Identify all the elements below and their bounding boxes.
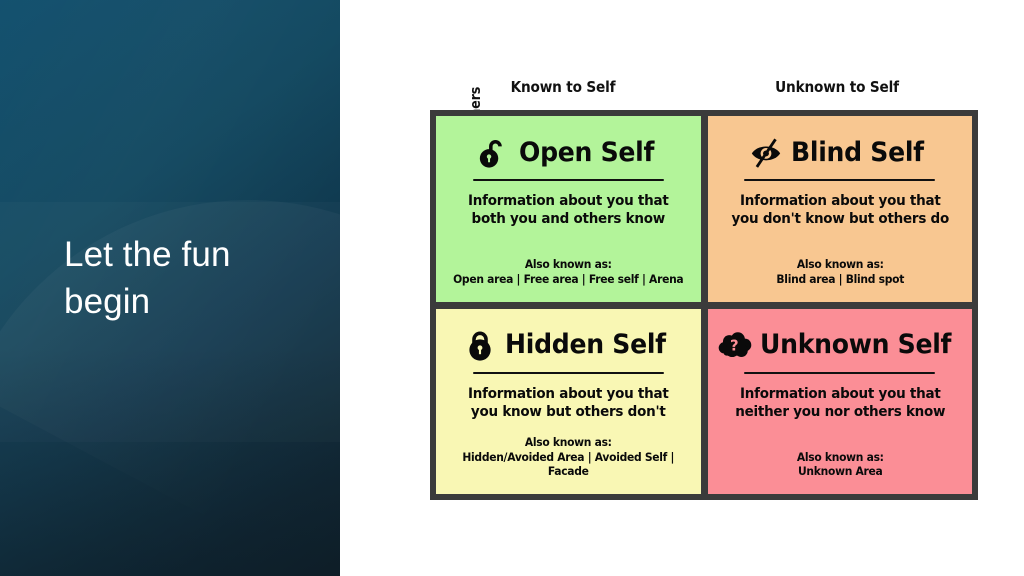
question-cloud-icon: ? bbox=[718, 328, 752, 362]
page-title: Let the fun begin bbox=[64, 232, 314, 325]
quadrant-open-self[interactable]: Open Self Information about you that bot… bbox=[436, 116, 701, 302]
open-padlock-icon bbox=[477, 135, 511, 169]
quadrant-hidden-self[interactable]: Hidden Self Information about you that y… bbox=[436, 309, 701, 495]
aka-value: Hidden/Avoided Area | Avoided Self | Fac… bbox=[452, 451, 684, 480]
quadrant-description: Information about you that you don't kno… bbox=[724, 192, 956, 228]
quadrant-blind-self[interactable]: Blind Self Information about you that yo… bbox=[708, 116, 973, 302]
johari-window-matrix: Known to Self Unknown to Self Known to O… bbox=[386, 78, 978, 506]
quadrant-title: Blind Self bbox=[791, 137, 924, 168]
quadrant-divider bbox=[473, 179, 664, 181]
quadrant-title: Hidden Self bbox=[505, 329, 666, 360]
matrix-grid: Open Self Information about you that bot… bbox=[430, 110, 978, 500]
svg-text:?: ? bbox=[730, 336, 739, 354]
quadrant-title: Unknown Self bbox=[760, 329, 951, 360]
aka-label: Also known as: bbox=[724, 451, 956, 466]
quadrant-title: Open Self bbox=[519, 137, 654, 168]
quadrant-divider bbox=[744, 179, 935, 181]
column-header-unknown-to-self: Unknown to Self bbox=[715, 78, 960, 102]
closed-padlock-icon bbox=[463, 328, 497, 362]
quadrant-aka: Also known as: Hidden/Avoided Area | Avo… bbox=[452, 436, 684, 484]
quadrant-heading: Open Self bbox=[446, 128, 691, 176]
quadrant-aka: Also known as: Open area | Free area | F… bbox=[452, 258, 684, 291]
aka-label: Also known as: bbox=[452, 258, 684, 273]
slide-canvas: Let the fun begin Known to Self Unknown … bbox=[0, 0, 1024, 576]
aka-value: Blind area | Blind spot bbox=[724, 273, 956, 288]
quadrant-divider bbox=[473, 372, 664, 374]
eye-slash-icon bbox=[749, 135, 783, 169]
quadrant-description: Information about you that neither you n… bbox=[724, 385, 956, 421]
title-panel: Let the fun begin bbox=[0, 0, 340, 576]
decorative-vignette bbox=[0, 346, 340, 576]
quadrant-divider bbox=[744, 372, 935, 374]
quadrant-heading: Blind Self bbox=[718, 128, 963, 176]
aka-value: Unknown Area bbox=[724, 465, 956, 480]
quadrant-heading: ? Unknown Self bbox=[718, 321, 963, 369]
aka-value: Open area | Free area | Free self | Aren… bbox=[452, 273, 684, 288]
quadrant-unknown-self[interactable]: ? Unknown Self Information about you tha… bbox=[708, 309, 973, 495]
quadrant-description: Information about you that you know but … bbox=[452, 385, 684, 421]
quadrant-aka: Also known as: Blind area | Blind spot bbox=[724, 258, 956, 291]
aka-label: Also known as: bbox=[724, 258, 956, 273]
quadrant-aka: Also known as: Unknown Area bbox=[724, 451, 956, 484]
aka-label: Also known as: bbox=[452, 436, 684, 451]
quadrant-heading: Hidden Self bbox=[446, 321, 691, 369]
quadrant-description: Information about you that both you and … bbox=[452, 192, 684, 228]
